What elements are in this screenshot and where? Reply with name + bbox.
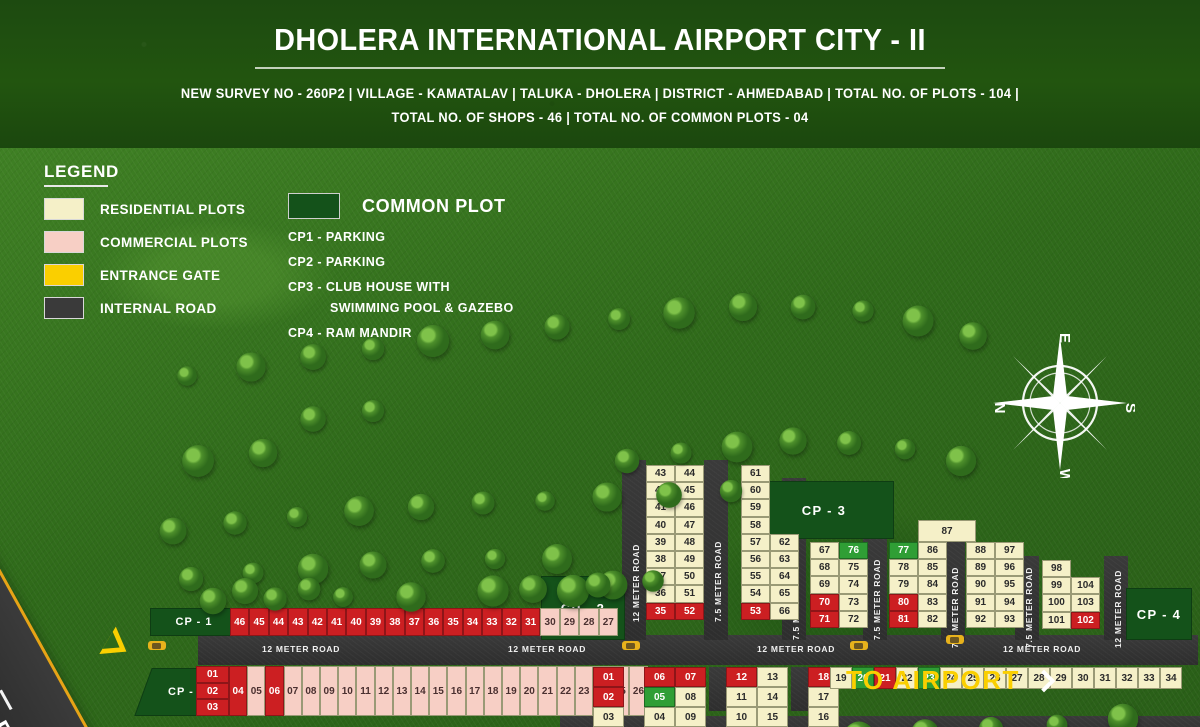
- plot-shops-upper-row-37[interactable]: 37: [405, 608, 424, 636]
- chevron-right-icon: [1033, 669, 1056, 692]
- plot-lower-block-01-18-01[interactable]: 01: [593, 667, 624, 687]
- plot-lower-strip-19-34-31[interactable]: 31: [1094, 667, 1116, 689]
- plot-block-35-52-52[interactable]: 52: [675, 603, 704, 620]
- legend-item-label: ENTRANCE GATE: [100, 268, 220, 283]
- road-label-12m-0: 12 METER ROAD: [262, 644, 340, 654]
- tree-icon: [249, 439, 277, 467]
- title-divider: [255, 67, 945, 69]
- plot-lower-block-01-18-11[interactable]: 11: [726, 687, 757, 707]
- legend-rows: RESIDENTIAL PLOTSCOMMERCIAL PLOTSENTRANC…: [44, 198, 248, 319]
- plot-block-88-97-88[interactable]: 88: [966, 542, 995, 559]
- plot-shops-stack-01-03-01[interactable]: 01: [196, 666, 229, 683]
- plot-block-88-97-91[interactable]: 91: [966, 594, 995, 611]
- header-subtitle-line-2: TOTAL NO. OF SHOPS - 46 | TOTAL NO. OF C…: [30, 107, 1170, 129]
- plot-block-53-66-60[interactable]: 60: [741, 482, 770, 499]
- plot-shops-lower-row-08[interactable]: 08: [302, 666, 320, 716]
- common-plot-legend-label: COMMON PLOT: [362, 196, 506, 217]
- plot-block-35-52-47[interactable]: 47: [675, 517, 704, 534]
- tree-icon: [656, 482, 682, 508]
- tree-icon: [287, 507, 307, 527]
- tree-icon: [223, 511, 246, 534]
- tree-icon: [300, 406, 325, 431]
- plot-block-53-66-59[interactable]: 59: [741, 499, 770, 516]
- tree-icon: [946, 446, 976, 476]
- plot-shops-lower-row-12[interactable]: 12: [375, 666, 393, 716]
- plot-block-53-66-66[interactable]: 66: [770, 603, 799, 620]
- plot-shops-upper-row-32[interactable]: 32: [502, 608, 521, 636]
- plot-block-88-97-95[interactable]: 95: [995, 576, 1024, 593]
- tree-icon: [232, 578, 258, 604]
- plot-shops-lower-row-10[interactable]: 10: [338, 666, 356, 716]
- plot-shops-lower-row-17[interactable]: 17: [466, 666, 484, 716]
- tree-icon: [544, 314, 569, 339]
- plot-lower-block-01-18-03[interactable]: 03: [593, 707, 624, 727]
- tree-icon: [535, 491, 555, 511]
- tree-icon: [236, 352, 265, 381]
- tree-icon: [333, 587, 353, 607]
- plot-block-98-104-103[interactable]: 103: [1071, 594, 1100, 611]
- plot-block-67-76-74[interactable]: 74: [839, 576, 868, 593]
- plot-block-53-66-54[interactable]: 54: [741, 585, 770, 602]
- plot-block-77-87-84[interactable]: 84: [918, 576, 947, 593]
- plot-block-88-97-94[interactable]: 94: [995, 594, 1024, 611]
- tree-icon: [263, 587, 286, 610]
- road-label-vertical-6: 12 METER ROAD: [1113, 570, 1123, 648]
- legend-swatch-0: [44, 198, 84, 220]
- plot-shops-upper-row-35[interactable]: 35: [443, 608, 462, 636]
- plot-block-35-52-40[interactable]: 40: [646, 517, 675, 534]
- road-label-vertical-1: 7.5 METER ROAD: [713, 541, 723, 622]
- plot-lower-block-01-18-16[interactable]: 16: [808, 707, 839, 727]
- plot-lower-block-01-18-02[interactable]: 02: [593, 687, 624, 707]
- plot-block-77-87-79[interactable]: 79: [889, 576, 918, 593]
- common-plot-legend: COMMON PLOT CP1 - PARKINGCP2 - PARKINGCP…: [288, 193, 514, 340]
- plot-block-88-97-97[interactable]: 97: [995, 542, 1024, 559]
- common-plot-label: CP - 1: [176, 616, 213, 628]
- plot-block-35-52-51[interactable]: 51: [675, 585, 704, 602]
- tree-icon: [177, 366, 197, 386]
- plot-block-53-66-58[interactable]: 58: [741, 517, 770, 534]
- plot-lower-block-01-18-08[interactable]: 08: [675, 687, 706, 707]
- plot-shops-lower-row-11[interactable]: 11: [356, 666, 374, 716]
- tree-icon: [359, 551, 386, 578]
- legend: LEGEND RESIDENTIAL PLOTSCOMMERCIAL PLOTS…: [44, 162, 248, 319]
- plot-shops-upper-row-39[interactable]: 39: [366, 608, 385, 636]
- plot-shops-upper-row-31[interactable]: 31: [521, 608, 540, 636]
- plot-block-88-97-92[interactable]: 92: [966, 611, 995, 628]
- common-plot-cp3-3[interactable]: CP - 3: [754, 481, 894, 539]
- compass-label-north: N: [991, 403, 1008, 414]
- tree-icon: [408, 494, 434, 520]
- tree-icon: [722, 432, 753, 463]
- plot-shops-upper-row-36[interactable]: 36: [424, 608, 443, 636]
- to-airport-indicator[interactable]: TO AIRPORT: [846, 665, 1052, 696]
- legend-item-label: COMMERCIAL PLOTS: [100, 235, 248, 250]
- common-plot-label: CP - 3: [802, 503, 846, 518]
- tree-icon: [362, 400, 384, 422]
- plot-lower-block-01-18-14[interactable]: 14: [757, 687, 788, 707]
- plot-shops-lower-row-13[interactable]: 13: [393, 666, 411, 716]
- road-stub-lower-2: [791, 667, 809, 711]
- plot-lower-block-01-18-17[interactable]: 17: [808, 687, 839, 707]
- plot-block-77-87-81[interactable]: 81: [889, 611, 918, 628]
- plot-block-53-66-62[interactable]: 62: [770, 534, 799, 551]
- plot-block-53-66-55[interactable]: 55: [741, 568, 770, 585]
- common-plot-cp1-0[interactable]: CP - 1: [150, 608, 238, 636]
- site-plan-canvas: ENTRANCE - 60 FEET ROAD LEGEND RESIDENTI…: [0, 148, 1200, 727]
- tree-icon: [417, 325, 449, 357]
- tree-icon: [519, 575, 547, 603]
- tree-icon: [481, 321, 510, 350]
- legend-swatch-3: [44, 297, 84, 319]
- legend-item-label: RESIDENTIAL PLOTS: [100, 202, 245, 217]
- legend-item-2: ENTRANCE GATE: [44, 264, 248, 286]
- road-label-12m-1: 12 METER ROAD: [508, 644, 586, 654]
- road-label-12m-3: 12 METER ROAD: [1003, 644, 1081, 654]
- tree-icon: [959, 322, 987, 350]
- tree-icon: [421, 549, 445, 573]
- plot-lower-block-01-18-06[interactable]: 06: [644, 667, 675, 687]
- road-label-vertical-3: 7.5 METER ROAD: [872, 559, 882, 640]
- plot-lower-strip-19-34-33[interactable]: 33: [1138, 667, 1160, 689]
- main-road-label: 60 FEET ROAD: [0, 617, 46, 727]
- plot-lower-block-01-18-09[interactable]: 09: [675, 707, 706, 727]
- tree-icon: [396, 582, 425, 611]
- tree-icon: [557, 575, 589, 607]
- plot-block-88-97-89[interactable]: 89: [966, 559, 995, 576]
- plot-shops-lower-row-04[interactable]: 04: [229, 666, 247, 716]
- page-header: DHOLERA INTERNATIONAL AIRPORT CITY - II …: [0, 0, 1200, 148]
- plot-block-77-87-85[interactable]: 85: [918, 559, 947, 576]
- plot-shops-lower-row-15[interactable]: 15: [429, 666, 447, 716]
- tree-icon: [615, 449, 639, 473]
- plot-block-88-97-90[interactable]: 90: [966, 576, 995, 593]
- plot-shops-upper-row-44[interactable]: 44: [269, 608, 288, 636]
- plot-shops-lower-row-21[interactable]: 21: [538, 666, 556, 716]
- plot-shops-upper-row-46[interactable]: 46: [230, 608, 249, 636]
- legend-item-3: INTERNAL ROAD: [44, 297, 248, 319]
- plot-block-67-76-71[interactable]: 71: [810, 611, 839, 628]
- plot-block-67-76-69[interactable]: 69: [810, 576, 839, 593]
- plot-shops-stack-01-03-02[interactable]: 02: [196, 683, 229, 700]
- plot-shops-upper-row-38[interactable]: 38: [385, 608, 404, 636]
- tree-icon: [642, 570, 664, 592]
- common-plot-desc-3: SWIMMING POOL & GAZEBO: [288, 301, 514, 315]
- common-plot-cp4-4[interactable]: CP - 4: [1126, 588, 1192, 640]
- plot-shops-lower-row-09[interactable]: 09: [320, 666, 338, 716]
- plot-block-77-87-87[interactable]: 87: [918, 520, 976, 542]
- tree-icon: [670, 442, 691, 463]
- plot-shops-lower-row-16[interactable]: 16: [447, 666, 465, 716]
- plot-shops-upper-row-27[interactable]: 27: [599, 608, 618, 636]
- plot-shops-upper-row-40[interactable]: 40: [346, 608, 365, 636]
- plot-block-98-104-99[interactable]: 99: [1042, 577, 1071, 594]
- plot-lower-strip-19-34-30[interactable]: 30: [1072, 667, 1094, 689]
- compass-label-west: W: [1056, 469, 1073, 478]
- tree-icon: [300, 344, 326, 370]
- plot-block-67-76-68[interactable]: 68: [810, 559, 839, 576]
- mini-car-icon-1: [622, 641, 640, 650]
- plot-block-77-87-82[interactable]: 82: [918, 611, 947, 628]
- tree-icon: [362, 338, 384, 360]
- tree-icon: [542, 544, 572, 574]
- plot-shops-upper-row-42[interactable]: 42: [308, 608, 327, 636]
- to-airport-label: TO AIRPORT: [846, 665, 1020, 696]
- tree-icon: [720, 480, 742, 502]
- plot-shops-upper-row-29[interactable]: 29: [560, 608, 579, 636]
- plot-block-67-76-76[interactable]: 76: [839, 542, 868, 559]
- mini-car-icon-0: [148, 641, 166, 650]
- plot-shops-upper-row-33[interactable]: 33: [482, 608, 501, 636]
- plot-lower-block-01-18-07[interactable]: 07: [675, 667, 706, 687]
- plot-lower-block-01-18-12[interactable]: 12: [726, 667, 757, 687]
- plot-block-53-66-64[interactable]: 64: [770, 568, 799, 585]
- tree-icon: [179, 567, 203, 591]
- legend-item-label: INTERNAL ROAD: [100, 301, 217, 316]
- common-plot-swatch: [288, 193, 340, 219]
- tree-icon: [586, 573, 611, 598]
- plot-shops-lower-row-22[interactable]: 22: [557, 666, 575, 716]
- plot-block-53-66-57[interactable]: 57: [741, 534, 770, 551]
- tree-icon: [852, 300, 873, 321]
- plot-lower-block-01-18-15[interactable]: 15: [757, 707, 788, 727]
- common-plot-desc-2: CP3 - CLUB HOUSE WITH: [288, 280, 514, 294]
- plot-block-67-76-72[interactable]: 72: [839, 611, 868, 628]
- road-label-vertical-0: 12 METER ROAD: [631, 544, 641, 622]
- plot-shops-lower-row-07[interactable]: 07: [284, 666, 302, 716]
- plot-block-77-87-77[interactable]: 77: [889, 542, 918, 559]
- road-stub-lower-1: [709, 667, 727, 711]
- plot-block-98-104-98[interactable]: 98: [1042, 560, 1071, 577]
- legend-swatch-2: [44, 264, 84, 286]
- mini-car-icon-3: [946, 635, 964, 644]
- header-subtitle-line-1: NEW SURVEY NO - 260P2 | VILLAGE - KAMATA…: [30, 83, 1170, 105]
- legend-swatch-1: [44, 231, 84, 253]
- common-plot-desc-4: CP4 - RAM MANDIR: [288, 326, 514, 340]
- plot-shops-upper-row-45[interactable]: 45: [249, 608, 268, 636]
- page-title: DHOLERA INTERNATIONAL AIRPORT CITY - II: [42, 0, 1158, 58]
- tree-icon: [485, 549, 505, 569]
- plot-block-67-76-67[interactable]: 67: [810, 542, 839, 559]
- tree-icon: [160, 518, 187, 545]
- tree-icon: [837, 431, 861, 455]
- plot-shops-upper-row-41[interactable]: 41: [327, 608, 346, 636]
- plot-block-53-66-53[interactable]: 53: [741, 603, 770, 620]
- tree-icon: [472, 492, 495, 515]
- tree-icon: [903, 306, 934, 337]
- plot-block-98-104-102[interactable]: 102: [1071, 612, 1100, 629]
- plot-lower-block-01-18-05[interactable]: 05: [644, 687, 675, 707]
- plot-lower-strip-19-34-34[interactable]: 34: [1160, 667, 1182, 689]
- plot-shops-lower-row-23[interactable]: 23: [575, 666, 593, 716]
- plot-shops-lower-row-14[interactable]: 14: [411, 666, 429, 716]
- plot-block-98-104-101[interactable]: 101: [1042, 612, 1071, 629]
- legend-title: LEGEND: [44, 162, 248, 182]
- plot-block-35-52-49[interactable]: 49: [675, 551, 704, 568]
- plot-block-77-87-83[interactable]: 83: [918, 594, 947, 611]
- common-plot-descriptions: CP1 - PARKINGCP2 - PARKINGCP3 - CLUB HOU…: [288, 230, 514, 340]
- tree-icon: [592, 482, 621, 511]
- plot-block-53-66-61[interactable]: 61: [741, 465, 770, 482]
- plot-shops-lower-row-05[interactable]: 05: [247, 666, 265, 716]
- legend-title-divider: [44, 185, 108, 187]
- plot-shops-stack-01-03-03[interactable]: 03: [196, 699, 229, 716]
- legend-item-0: RESIDENTIAL PLOTS: [44, 198, 248, 220]
- plot-block-67-76-75[interactable]: 75: [839, 559, 868, 576]
- common-plot-desc-0: CP1 - PARKING: [288, 230, 514, 244]
- plot-lower-block-01-18-13[interactable]: 13: [757, 667, 788, 687]
- compass-label-east: E: [1056, 333, 1073, 343]
- plot-block-53-66-63[interactable]: 63: [770, 551, 799, 568]
- plot-block-88-97-96[interactable]: 96: [995, 559, 1024, 576]
- plot-shops-lower-row-20[interactable]: 20: [520, 666, 538, 716]
- plot-block-35-52-50[interactable]: 50: [675, 568, 704, 585]
- tree-icon: [791, 295, 816, 320]
- plot-block-77-87-78[interactable]: 78: [889, 559, 918, 576]
- tree-icon: [663, 297, 694, 328]
- legend-item-1: COMMERCIAL PLOTS: [44, 231, 248, 253]
- plot-shops-lower-row-19[interactable]: 19: [502, 666, 520, 716]
- plot-block-67-76-70[interactable]: 70: [810, 594, 839, 611]
- plot-block-88-97-93[interactable]: 93: [995, 611, 1024, 628]
- plot-block-53-66-65[interactable]: 65: [770, 585, 799, 602]
- plot-block-53-66-56[interactable]: 56: [741, 551, 770, 568]
- plot-block-35-52-39[interactable]: 39: [646, 534, 675, 551]
- plot-block-98-104-104[interactable]: 104: [1071, 577, 1100, 594]
- compass-rose-icon: E N S W: [985, 328, 1135, 478]
- common-plot-legend-header: COMMON PLOT: [288, 193, 514, 219]
- plot-block-77-87-80[interactable]: 80: [889, 594, 918, 611]
- plot-shops-upper-row-28[interactable]: 28: [579, 608, 598, 636]
- plot-block-35-52-43[interactable]: 43: [646, 465, 675, 482]
- tree-icon: [477, 575, 508, 606]
- tree-icon: [1108, 704, 1138, 727]
- plot-block-67-76-73[interactable]: 73: [839, 594, 868, 611]
- plot-block-77-87-86[interactable]: 86: [918, 542, 947, 559]
- plot-lower-block-01-18-10[interactable]: 10: [726, 707, 757, 727]
- plot-shops-lower-row-18[interactable]: 18: [484, 666, 502, 716]
- common-plot-desc-1: CP2 - PARKING: [288, 255, 514, 269]
- plot-block-98-104-100[interactable]: 100: [1042, 594, 1071, 611]
- tree-icon: [895, 439, 916, 460]
- tree-icon: [200, 588, 227, 615]
- plot-block-35-52-35[interactable]: 35: [646, 603, 675, 620]
- plot-shops-upper-row-30[interactable]: 30: [540, 608, 559, 636]
- plot-block-35-52-48[interactable]: 48: [675, 534, 704, 551]
- plot-block-35-52-44[interactable]: 44: [675, 465, 704, 482]
- tree-icon: [779, 427, 806, 454]
- plot-shops-upper-row-34[interactable]: 34: [463, 608, 482, 636]
- tree-icon: [298, 578, 321, 601]
- entrance-gate-arrow-icon: [99, 627, 134, 666]
- plot-shops-lower-row-06[interactable]: 06: [265, 666, 283, 716]
- tree-icon: [182, 445, 214, 477]
- plot-shops-upper-row-43[interactable]: 43: [288, 608, 307, 636]
- plot-block-35-52-38[interactable]: 38: [646, 551, 675, 568]
- plot-lower-strip-19-34-32[interactable]: 32: [1116, 667, 1138, 689]
- road-label-vertical-5: 7.5 METER ROAD: [1024, 567, 1034, 648]
- common-plot-label: CP - 4: [1137, 607, 1181, 622]
- tree-icon: [729, 293, 757, 321]
- compass-label-south: S: [1122, 403, 1135, 413]
- tree-icon: [608, 308, 630, 330]
- mini-car-icon-2: [850, 641, 868, 650]
- plot-lower-block-01-18-04[interactable]: 04: [644, 707, 675, 727]
- road-label-12m-2: 12 METER ROAD: [757, 644, 835, 654]
- tree-icon: [344, 496, 374, 526]
